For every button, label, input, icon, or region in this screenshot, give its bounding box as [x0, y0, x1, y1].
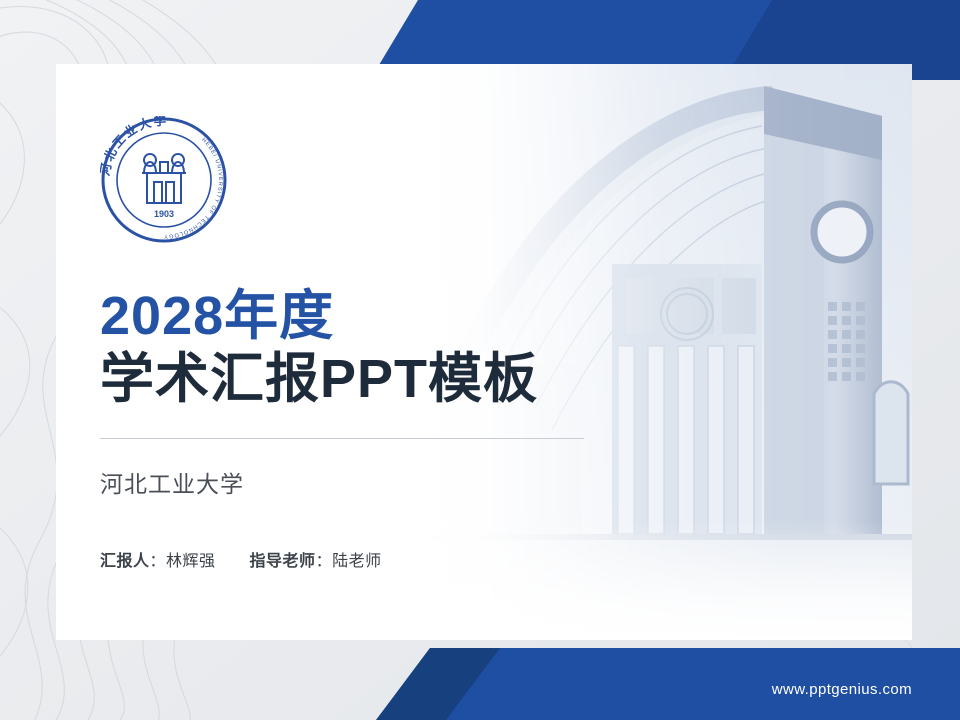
- title-divider: [100, 438, 584, 439]
- presenter-name: 林辉强: [166, 547, 216, 571]
- advisor-label: 指导老师: [250, 547, 316, 571]
- hebei-university-of-technology-seal: 河北工业大学 HEBEI UNIVERSITY OF TECHNOLOGY: [100, 116, 228, 244]
- subtitle-university: 河北工业大学: [100, 465, 640, 499]
- advisor-separator: ：: [316, 547, 333, 571]
- presentation-slide: 河北工业大学 HEBEI UNIVERSITY OF TECHNOLOGY: [0, 0, 960, 720]
- title-year: 2028年度: [100, 286, 640, 346]
- presenter-separator: ：: [150, 547, 167, 571]
- presenter-label: 汇报人: [100, 547, 150, 571]
- footer-website-url: www.pptgenius.com: [772, 681, 912, 698]
- advisor-name: 陆老师: [332, 547, 382, 571]
- title-block: 2028年度 学术汇报PPT模板 河北工业大学 汇报人 ： 林辉强 指导老师 ：…: [100, 286, 640, 571]
- slide-card: 河北工业大学 HEBEI UNIVERSITY OF TECHNOLOGY: [56, 64, 912, 640]
- presenter-meta: 汇报人 ： 林辉强 指导老师 ： 陆老师: [100, 547, 640, 571]
- svg-text:1903: 1903: [154, 209, 174, 219]
- title-main: 学术汇报PPT模板: [100, 348, 640, 412]
